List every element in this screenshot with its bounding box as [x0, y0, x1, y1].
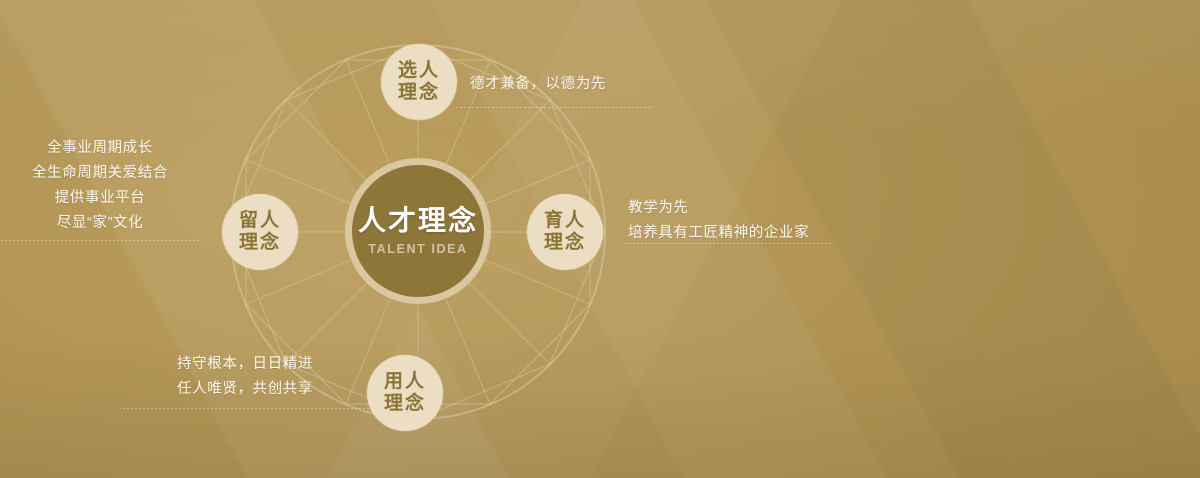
center-subtitle: TALENT IDEA — [368, 242, 467, 256]
caption-retain-talent-line-2: 全生命周期关爱结合 — [0, 161, 200, 186]
talent-idea-infographic: 人才理念 TALENT IDEA 选人 理念 育人 理念 用人 理念 留人 理念… — [0, 0, 1200, 478]
node-cultivate-talent[interactable]: 育人 理念 — [527, 194, 603, 270]
node-select-talent[interactable]: 选人 理念 — [381, 44, 457, 120]
caption-retain-talent-line-4: 尽显“家”文化 — [0, 211, 200, 236]
caption-retain-talent: 全事业周期成长 全生命周期关爱结合 提供事业平台 尽显“家”文化 — [0, 136, 200, 236]
caption-select-talent-line-1: 德才兼备，以德为先 — [470, 72, 606, 97]
node-retain-talent-line-1: 留人 — [239, 210, 281, 232]
center-title: 人才理念 — [358, 207, 478, 235]
caption-cultivate-talent: 教学为先 培养具有工匠精神的企业家 — [628, 196, 809, 246]
caption-select-talent: 德才兼备，以德为先 — [470, 72, 606, 97]
node-retain-talent-line-2: 理念 — [239, 232, 281, 254]
caption-employ-talent-underline — [122, 408, 370, 409]
node-retain-talent[interactable]: 留人 理念 — [222, 194, 298, 270]
node-employ-talent-line-1: 用人 — [384, 371, 426, 393]
node-select-talent-line-2: 理念 — [398, 82, 440, 104]
caption-retain-talent-underline — [0, 240, 200, 241]
node-employ-talent[interactable]: 用人 理念 — [367, 355, 443, 431]
node-select-talent-line-1: 选人 — [398, 60, 440, 82]
node-employ-talent-line-2: 理念 — [384, 393, 426, 415]
center-node-talent-idea[interactable]: 人才理念 TALENT IDEA — [345, 158, 491, 304]
caption-employ-talent-line-1: 持守根本，日日精进 — [120, 352, 370, 377]
node-cultivate-talent-line-1: 育人 — [544, 210, 586, 232]
node-cultivate-talent-line-2: 理念 — [544, 232, 586, 254]
caption-retain-talent-line-3: 提供事业平台 — [0, 186, 200, 211]
caption-cultivate-talent-line-1: 教学为先 — [628, 196, 809, 221]
caption-select-talent-underline — [455, 107, 653, 108]
caption-employ-talent: 持守根本，日日精进 任人唯贤，共创共享 — [120, 352, 370, 402]
caption-retain-talent-line-1: 全事业周期成长 — [0, 136, 200, 161]
caption-employ-talent-line-2: 任人唯贤，共创共享 — [120, 377, 370, 402]
caption-cultivate-talent-underline — [624, 243, 834, 244]
